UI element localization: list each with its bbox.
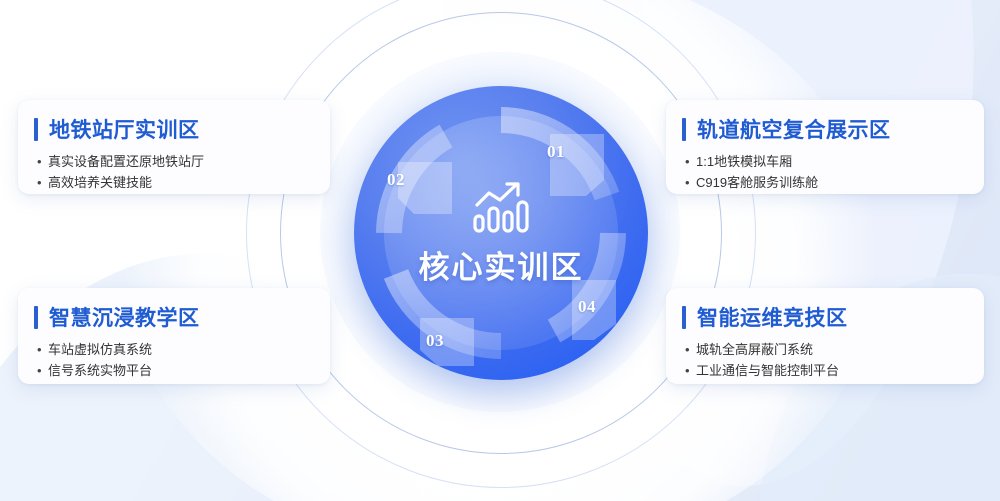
list-item: • 1:1地铁模拟车厢 — [696, 151, 966, 172]
bullet-icon: • — [685, 339, 690, 360]
bullet-icon: • — [685, 172, 690, 193]
card-title: 轨道航空复合展示区 — [697, 114, 891, 144]
card-header: 地铁站厅实训区 — [34, 114, 312, 144]
bullet-icon: • — [37, 339, 42, 360]
card-header: 轨道航空复合展示区 — [682, 114, 966, 144]
card-header: 智慧沉浸教学区 — [34, 302, 312, 332]
list-item-label: 信号系统实物平台 — [48, 363, 152, 378]
card-title: 智慧沉浸教学区 — [49, 302, 200, 332]
hub-center-content: 核心实训区 — [354, 86, 648, 380]
growth-bar-chart-icon — [470, 180, 532, 236]
card-bottom-right[interactable]: 智能运维竞技区 • 城轨全高屏蔽门系统 • 工业通信与智能控制平台 — [666, 288, 984, 384]
core-hub-circle[interactable]: 01 02 03 04 核心实训区 — [354, 86, 648, 380]
bullet-icon: • — [37, 151, 42, 172]
card-bottom-left[interactable]: 智慧沉浸教学区 • 车站虚拟仿真系统 • 信号系统实物平台 — [18, 288, 330, 384]
list-item-label: 1:1地铁模拟车厢 — [696, 154, 792, 169]
card-bullet-list: • 1:1地铁模拟车厢 • C919客舱服务训练舱 — [682, 151, 966, 193]
accent-bar-icon — [682, 118, 686, 141]
card-bullet-list: • 真实设备配置还原地铁站厅 • 高效培养关键技能 — [34, 151, 312, 193]
list-item-label: 工业通信与智能控制平台 — [696, 363, 839, 378]
card-title: 地铁站厅实训区 — [49, 114, 200, 144]
accent-bar-icon — [34, 306, 38, 329]
bullet-icon: • — [685, 151, 690, 172]
list-item: • 城轨全高屏蔽门系统 — [696, 339, 966, 360]
bullet-icon: • — [37, 172, 42, 193]
list-item: • 信号系统实物平台 — [48, 360, 312, 381]
list-item: • 工业通信与智能控制平台 — [696, 360, 966, 381]
infographic-canvas: 01 02 03 04 核心实训区 地铁站厅实训区 • — [0, 0, 1000, 501]
list-item-label: 真实设备配置还原地铁站厅 — [48, 154, 204, 169]
list-item: • C919客舱服务训练舱 — [696, 172, 966, 193]
bullet-icon: • — [37, 360, 42, 381]
accent-bar-icon — [34, 118, 38, 141]
card-top-right[interactable]: 轨道航空复合展示区 • 1:1地铁模拟车厢 • C919客舱服务训练舱 — [666, 100, 984, 194]
hub-title: 核心实训区 — [419, 242, 584, 287]
card-header: 智能运维竞技区 — [682, 302, 966, 332]
list-item: • 真实设备配置还原地铁站厅 — [48, 151, 312, 172]
card-bullet-list: • 车站虚拟仿真系统 • 信号系统实物平台 — [34, 339, 312, 381]
list-item-label: 城轨全高屏蔽门系统 — [696, 342, 813, 357]
accent-bar-icon — [682, 306, 686, 329]
bullet-icon: • — [685, 360, 690, 381]
card-bullet-list: • 城轨全高屏蔽门系统 • 工业通信与智能控制平台 — [682, 339, 966, 381]
card-title: 智能运维竞技区 — [697, 302, 848, 332]
list-item-label: 车站虚拟仿真系统 — [48, 342, 152, 357]
card-top-left[interactable]: 地铁站厅实训区 • 真实设备配置还原地铁站厅 • 高效培养关键技能 — [18, 100, 330, 194]
list-item-label: C919客舱服务训练舱 — [696, 175, 818, 190]
list-item-label: 高效培养关键技能 — [48, 175, 152, 190]
list-item: • 高效培养关键技能 — [48, 172, 312, 193]
list-item: • 车站虚拟仿真系统 — [48, 339, 312, 360]
